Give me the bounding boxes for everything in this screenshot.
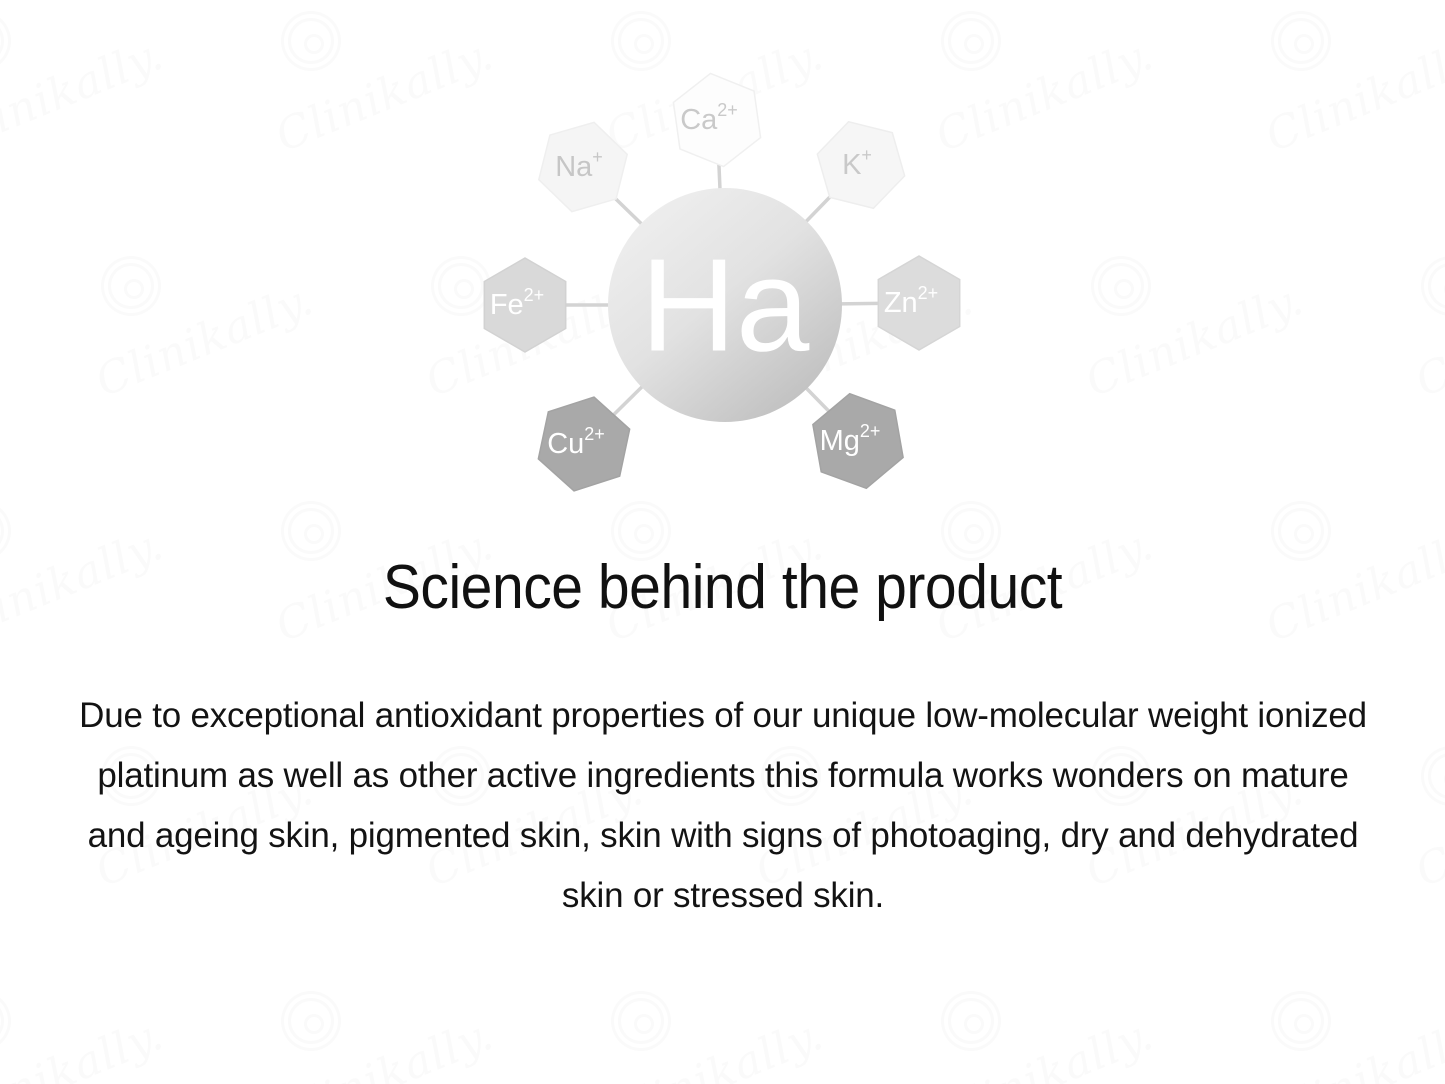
- clinikally-circle-logo-icon: [0, 998, 4, 1044]
- ion-node-na: Na+: [539, 122, 627, 211]
- product-science-slide: Clinikally.Clinikally.Clinikally.Clinika…: [0, 0, 1445, 1084]
- ion-node-zn: Zn2+: [878, 256, 959, 350]
- watermark-text: Clinikally.: [599, 1009, 831, 1084]
- core-atom-label: Ha: [641, 232, 810, 379]
- text-content-block: Science behind the product Due to except…: [0, 540, 1445, 925]
- watermark-text: Clinikally.: [0, 1009, 170, 1084]
- page-title: Science behind the product: [58, 540, 1387, 623]
- connector-line-mg: [805, 387, 829, 411]
- body-paragraph: Due to exceptional antioxidant propertie…: [67, 623, 1377, 925]
- ion-node-k: K+: [817, 122, 904, 209]
- watermark-text: Clinikally.: [929, 1009, 1161, 1084]
- clinikally-circle-logo-icon: [1278, 998, 1324, 1044]
- core-atom-group: Ha: [608, 188, 842, 422]
- watermark-text: Clinikally.: [1259, 1009, 1445, 1084]
- connector-line-cu: [613, 386, 643, 415]
- clinikally-circle-logo-icon: [288, 998, 334, 1044]
- clinikally-circle-logo-icon: [618, 998, 664, 1044]
- ion-node-ca: Ca2+: [673, 73, 760, 166]
- clinikally-circle-logo-icon: [948, 998, 994, 1044]
- watermark-text: Clinikally.: [269, 1009, 501, 1084]
- ion-node-fe: Fe2+: [484, 258, 565, 352]
- hyaluronic-acid-ion-molecule-diagram: Ha Ca2+Na+K+Fe2+Zn2+Cu2+Mg2+: [0, 0, 1445, 540]
- molecule-diagram-container: Ha Ca2+Na+K+Fe2+Zn2+Cu2+Mg2+: [0, 0, 1445, 540]
